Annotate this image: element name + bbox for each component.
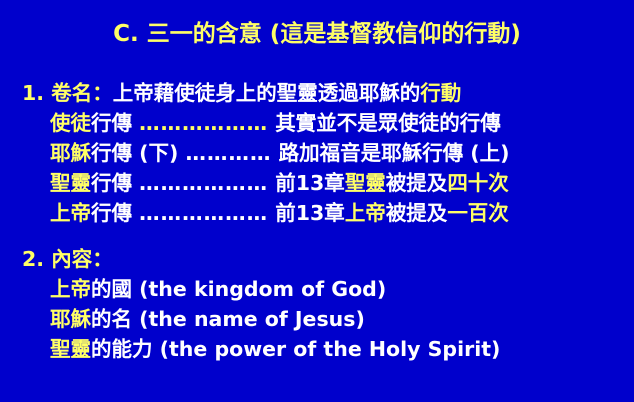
row-4-value-b: 上帝 [345, 201, 386, 225]
row-2-dot-leader: ………… [186, 141, 272, 165]
list-item-2-heading: 2. 內容： [22, 244, 622, 274]
list-item-row: 上帝的國 (the kingdom of God) [22, 274, 622, 304]
row-7-accent: 聖靈 [50, 337, 91, 361]
item-2-marker: 2. [22, 247, 44, 271]
slide-canvas: C. 三一的含意 (這是基督教信仰的行動) 1. 卷名：上帝藉使徒身上的聖靈透過… [0, 0, 634, 402]
row-3-label-body: 行傳 [91, 171, 132, 195]
list-item-row: 耶穌的名 (the name of Jesus) [22, 304, 622, 334]
row-3-value-b: 聖靈 [345, 171, 386, 195]
slide-body: 1. 卷名：上帝藉使徒身上的聖靈透過耶穌的行動 使徒行傳 ……………… 其實並不… [22, 78, 622, 364]
row-5-accent: 上帝 [50, 277, 91, 301]
row-2-value: 路加福音是耶穌行傳 (上) [279, 141, 510, 165]
row-4-value-c: 被提及 [386, 201, 448, 225]
list-item-row: 耶穌行傳 (下) ………… 路加福音是耶穌行傳 (上) [22, 138, 622, 168]
row-4-label-accent: 上帝 [50, 201, 91, 225]
row-3-dot-leader: ……………… [139, 171, 268, 195]
row-6-accent: 耶穌 [50, 307, 91, 331]
row-6-rest: 的名 (the name of Jesus) [91, 307, 365, 331]
row-2-label-accent: 耶穌 [50, 141, 91, 165]
list-item-row: 上帝行傳 ……………… 前13章上帝被提及一百次 [22, 198, 622, 228]
row-2-label-body: 行傳 (下) [91, 141, 178, 165]
row-1-value: 其實並不是眾使徒的行傳 [275, 111, 501, 135]
item-1-marker: 1. [22, 81, 44, 105]
row-3-value-d: 四十次 [447, 171, 509, 195]
list-item-row: 聖靈的能力 (the power of the Holy Spirit) [22, 334, 622, 364]
slide-title: C. 三一的含意 (這是基督教信仰的行動) [0, 22, 634, 47]
item-1-heading-tail: 行動 [420, 81, 461, 105]
row-5-rest: 的國 (the kingdom of God) [91, 277, 386, 301]
list-item-1-heading: 1. 卷名：上帝藉使徒身上的聖靈透過耶穌的行動 [22, 78, 622, 108]
row-1-label-body: 行傳 [91, 111, 132, 135]
row-3-label-accent: 聖靈 [50, 171, 91, 195]
row-1-label-accent: 使徒 [50, 111, 91, 135]
row-7-rest: 的能力 (the power of the Holy Spirit) [91, 337, 500, 361]
row-4-dot-leader: ……………… [139, 201, 268, 225]
section-spacer [22, 228, 622, 244]
item-1-heading-body: 上帝藉使徒身上的聖靈透過耶穌的 [113, 81, 421, 105]
item-2-heading-accent: 內容： [51, 247, 113, 271]
row-4-value-a: 前13章 [275, 201, 345, 225]
row-4-label-body: 行傳 [91, 201, 132, 225]
list-item-row: 使徒行傳 ……………… 其實並不是眾使徒的行傳 [22, 108, 622, 138]
row-4-value-d: 一百次 [447, 201, 509, 225]
row-3-value-c: 被提及 [386, 171, 448, 195]
item-1-heading-accent: 卷名： [51, 81, 113, 105]
row-3-value-a: 前13章 [275, 171, 345, 195]
row-1-dot-leader: ……………… [139, 111, 268, 135]
list-item-row: 聖靈行傳 ……………… 前13章聖靈被提及四十次 [22, 168, 622, 198]
